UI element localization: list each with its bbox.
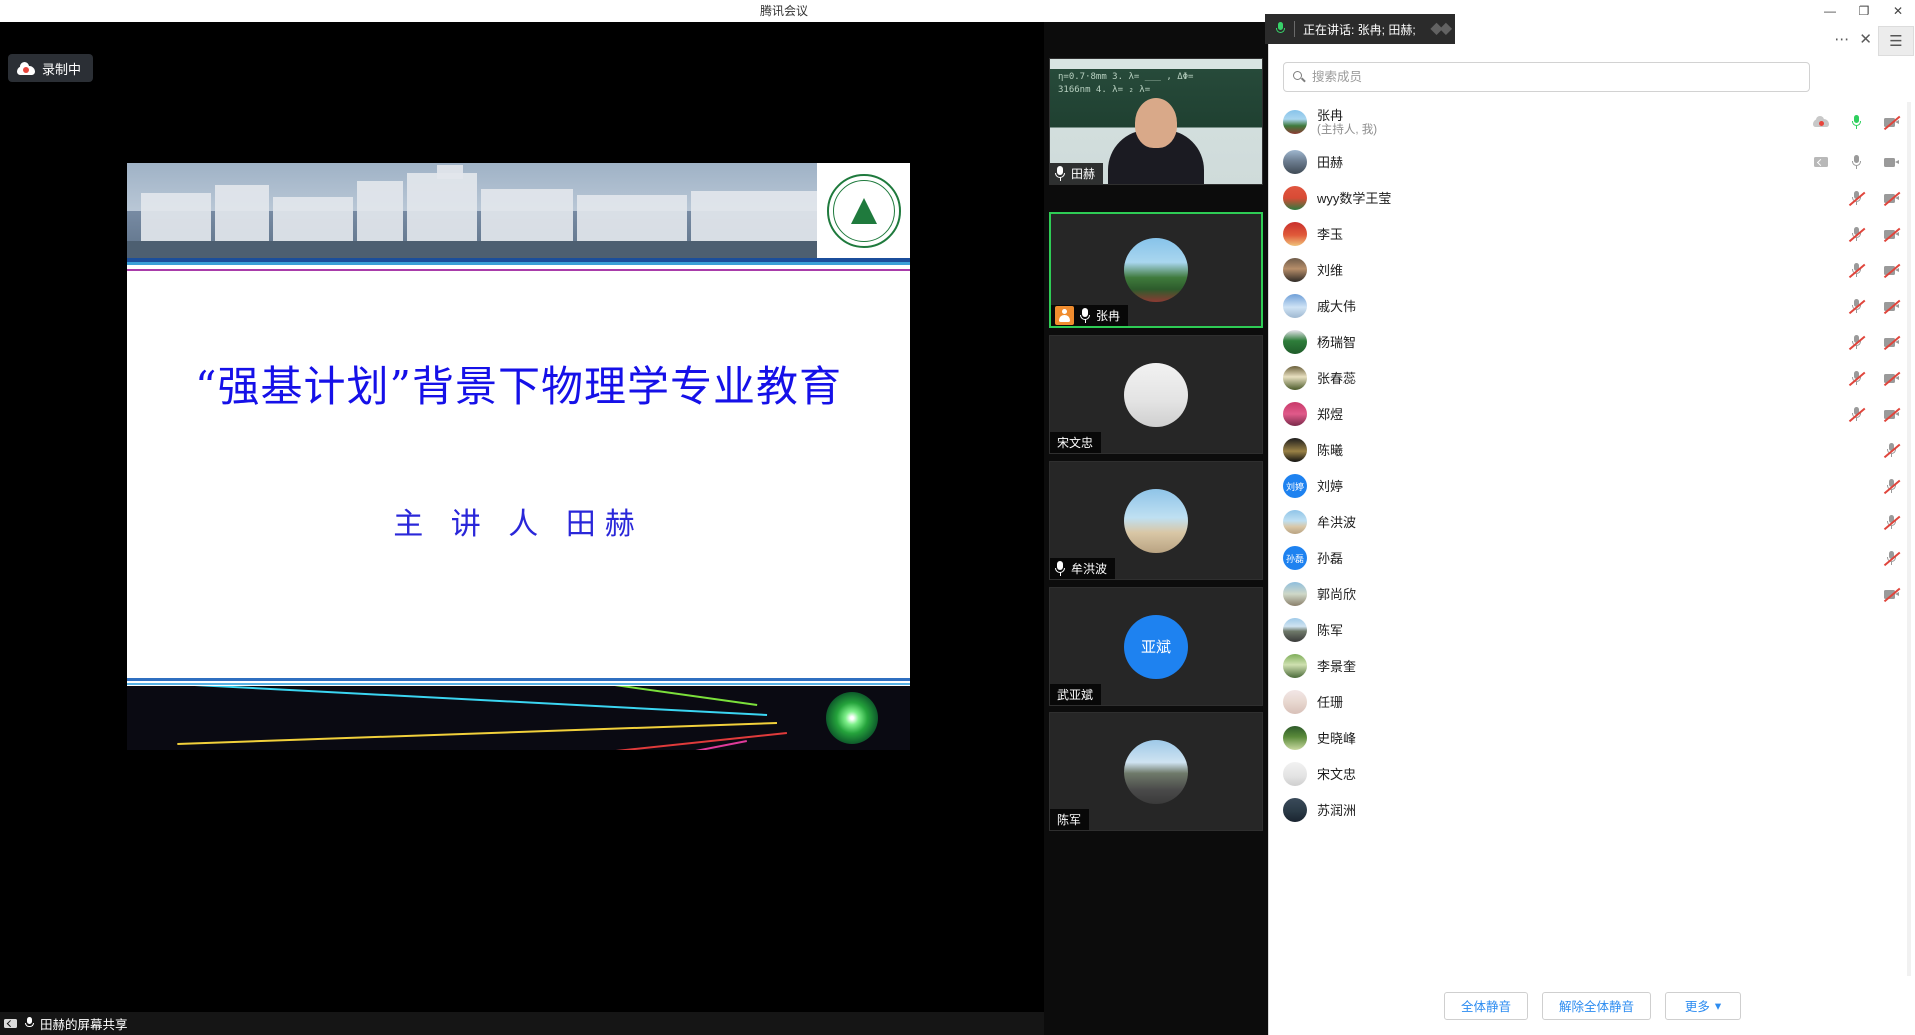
participant-row[interactable]: 牟洪波 <box>1269 504 1915 540</box>
camera-off-icon[interactable] <box>1883 335 1900 349</box>
participant-row[interactable]: 刘维 <box>1269 252 1915 288</box>
speaking-indicator: 正在讲话: 张冉; 田赫; ◆◆ <box>1265 14 1455 44</box>
avatar <box>1283 366 1307 390</box>
tile-label: 牟洪波 <box>1050 558 1115 579</box>
avatar <box>1283 762 1307 786</box>
avatar-initials: 亚斌 <box>1124 615 1188 679</box>
mic-off-icon[interactable] <box>1883 515 1900 529</box>
participant-name: 戚大伟 <box>1317 299 1356 314</box>
mic-off-icon[interactable] <box>1848 263 1865 277</box>
participant-row[interactable]: 戚大伟 <box>1269 288 1915 324</box>
mic-off-icon[interactable] <box>1883 479 1900 493</box>
camera-off-icon[interactable] <box>1883 407 1900 421</box>
panel-footer: 全体静音 解除全体静音 更多 ▾ <box>1269 976 1915 1035</box>
avatar <box>1124 740 1188 804</box>
participant-row[interactable]: 田赫 <box>1269 144 1915 180</box>
participant-name: 郑煜 <box>1317 407 1343 422</box>
avatar <box>1283 798 1307 822</box>
tile-label: 张冉 <box>1051 305 1128 326</box>
participant-row[interactable]: 史晓峰 <box>1269 720 1915 756</box>
participant-actions <box>1883 551 1900 565</box>
mic-icon <box>1054 166 1066 181</box>
video-tile-mouhongbo[interactable]: 牟洪波 <box>1049 461 1263 580</box>
video-tile-tianhe[interactable]: η=0.7·8mm 3. λ= ___ , ΔΦ=3166nm 4. λ= ₂ … <box>1049 58 1263 185</box>
recording-label: 录制中 <box>42 59 81 78</box>
participant-name: 陈军 <box>1317 623 1343 638</box>
participant-info: 戚大伟 <box>1317 299 1356 314</box>
panel-header: 正在讲话: 张冉; 田赫; ◆◆ ⋯ ✕ ☰ <box>1269 22 1915 60</box>
screen-share-icon[interactable] <box>1813 155 1830 169</box>
participant-name: 史晓峰 <box>1317 731 1356 746</box>
participant-row[interactable]: 张冉(主持人, 我) <box>1269 100 1915 144</box>
participant-name: 任珊 <box>1317 695 1343 710</box>
mic-icon <box>1275 22 1286 36</box>
participant-name: wyy数学王莹 <box>1317 191 1391 206</box>
participant-row[interactable]: 陈曦 <box>1269 432 1915 468</box>
mic-icon <box>24 1017 34 1030</box>
search-icon <box>1293 71 1305 83</box>
slide-title: “强基计划”背景下物理学专业教育 <box>127 353 910 414</box>
avatar <box>1283 690 1307 714</box>
avatar <box>1283 258 1307 282</box>
mic-on-icon[interactable] <box>1848 115 1865 129</box>
participant-info: 郭尚欣 <box>1317 587 1356 602</box>
tile-name: 张冉 <box>1096 307 1120 324</box>
avatar: 孙磊 <box>1283 546 1307 570</box>
avatar <box>1124 363 1188 427</box>
participant-name: 陈曦 <box>1317 443 1343 458</box>
participant-name: 李玉 <box>1317 227 1343 242</box>
participant-row[interactable]: 宋文忠 <box>1269 756 1915 792</box>
participant-name: 李景奎 <box>1317 659 1356 674</box>
avatar: 亚斌 <box>1124 615 1188 679</box>
participant-info: wyy数学王莹 <box>1317 191 1391 206</box>
participant-name: 郭尚欣 <box>1317 587 1356 602</box>
more-options-icon[interactable]: ⋯ <box>1834 30 1849 48</box>
participant-row[interactable]: 张春蕊 <box>1269 360 1915 396</box>
participant-actions <box>1848 263 1900 277</box>
video-tile-wuyabin[interactable]: 亚斌 武亚斌 <box>1049 587 1263 706</box>
avatar <box>1283 402 1307 426</box>
participant-info: 陈军 <box>1317 623 1343 638</box>
participant-actions <box>1848 191 1900 205</box>
camera-off-icon[interactable] <box>1883 371 1900 385</box>
participants-list[interactable]: 张冉(主持人, 我)田赫wyy数学王莹李玉刘维戚大伟杨瑞智张春蕊郑煜陈曦刘婷刘婷… <box>1269 100 1915 998</box>
participant-name: 刘维 <box>1317 263 1343 278</box>
chevron-down-icon: ▾ <box>1715 998 1721 1013</box>
avatar: 刘婷 <box>1283 474 1307 498</box>
participant-name: 牟洪波 <box>1317 515 1356 530</box>
mic-off-icon[interactable] <box>1883 551 1900 565</box>
camera-off-icon[interactable] <box>1883 191 1900 205</box>
participant-info: 田赫 <box>1317 155 1343 170</box>
chevrons-icon: ◆◆ <box>1430 18 1449 38</box>
close-button[interactable]: ✕ <box>1881 0 1915 22</box>
video-filmstrip[interactable]: η=0.7·8mm 3. λ= ___ , ΔΦ=3166nm 4. λ= ₂ … <box>1044 22 1268 1035</box>
participant-actions <box>1848 371 1900 385</box>
maximize-button[interactable]: ❐ <box>1847 0 1881 22</box>
meeting-window: 腾讯会议 — ❐ ✕ 录制中 <box>0 0 1915 1035</box>
share-status-text: 田赫的屏幕共享 <box>40 1014 128 1033</box>
participant-info: 张春蕊 <box>1317 371 1356 386</box>
avatar <box>1283 330 1307 354</box>
participant-name: 张冉 <box>1317 108 1377 123</box>
participant-row[interactable]: wyy数学王莹 <box>1269 180 1915 216</box>
participant-row[interactable]: 孙磊孙磊 <box>1269 540 1915 576</box>
cloud-record-icon[interactable] <box>1813 115 1830 129</box>
unmute-all-button[interactable]: 解除全体静音 <box>1542 992 1651 1020</box>
participant-info: 杨瑞智 <box>1317 335 1356 350</box>
mic-off-icon[interactable] <box>1848 335 1865 349</box>
slide-footer-image <box>127 686 910 750</box>
mic-off-icon[interactable] <box>1848 407 1865 421</box>
participant-name: 孙磊 <box>1317 551 1343 566</box>
participant-info: 陈曦 <box>1317 443 1343 458</box>
video-tile-zhangran[interactable]: 张冉 <box>1049 212 1263 328</box>
avatar <box>1283 294 1307 318</box>
participant-actions <box>1883 587 1900 601</box>
tile-label: 陈军 <box>1050 809 1089 830</box>
participant-row[interactable]: 郭尚欣 <box>1269 576 1915 612</box>
participant-name: 田赫 <box>1317 155 1343 170</box>
search-input[interactable] <box>1312 70 1800 84</box>
avatar <box>1283 654 1307 678</box>
university-logo <box>817 163 910 258</box>
participant-role: (主持人, 我) <box>1317 123 1377 137</box>
mic-icon[interactable] <box>1848 155 1865 169</box>
participant-actions <box>1813 115 1900 129</box>
participant-row[interactable]: 任珊 <box>1269 684 1915 720</box>
participant-info: 李玉 <box>1317 227 1343 242</box>
participant-info: 苏润洲 <box>1317 803 1356 818</box>
share-status-bar: 田赫的屏幕共享 <box>0 1012 1044 1035</box>
presentation-slide: “强基计划”背景下物理学专业教育 主 讲 人 田赫 <box>127 163 910 750</box>
tile-label: 宋文忠 <box>1050 432 1101 453</box>
participant-actions <box>1848 299 1900 313</box>
participant-row[interactable]: 郑煜 <box>1269 396 1915 432</box>
participant-info: 刘维 <box>1317 263 1343 278</box>
slide-banner-image <box>127 163 910 258</box>
camera-off-icon[interactable] <box>1883 227 1900 241</box>
participant-name: 张春蕊 <box>1317 371 1356 386</box>
mic-off-icon[interactable] <box>1883 443 1900 457</box>
minimize-button[interactable]: — <box>1813 0 1847 22</box>
camera-off-icon[interactable] <box>1883 115 1900 129</box>
participant-actions <box>1848 227 1900 241</box>
tile-name: 武亚斌 <box>1057 686 1093 703</box>
panel-tools: ⋯ ✕ <box>1834 30 1872 48</box>
camera-off-icon[interactable] <box>1883 263 1900 277</box>
avatar <box>1283 438 1307 462</box>
participant-name: 宋文忠 <box>1317 767 1356 782</box>
participant-actions <box>1883 479 1900 493</box>
participant-info: 宋文忠 <box>1317 767 1356 782</box>
participant-name: 苏润洲 <box>1317 803 1356 818</box>
tile-name: 田赫 <box>1071 165 1095 182</box>
participant-row[interactable]: 李玉 <box>1269 216 1915 252</box>
participant-actions <box>1848 407 1900 421</box>
avatar <box>1283 222 1307 246</box>
avatar <box>1283 110 1307 134</box>
tile-name: 宋文忠 <box>1057 434 1093 451</box>
cloud-record-icon <box>17 62 35 75</box>
speaking-text: 正在讲话: 张冉; 田赫; <box>1303 21 1416 38</box>
participant-actions <box>1848 335 1900 349</box>
participant-actions <box>1883 443 1900 457</box>
participant-info: 李景奎 <box>1317 659 1356 674</box>
avatar <box>1283 618 1307 642</box>
participant-info: 牟洪波 <box>1317 515 1356 530</box>
tile-name: 陈军 <box>1057 811 1081 828</box>
screen-share-icon <box>4 1018 18 1030</box>
avatar <box>1124 238 1188 302</box>
video-tile-chenjun[interactable]: 陈军 <box>1049 712 1263 831</box>
mic-off-icon[interactable] <box>1848 371 1865 385</box>
shared-screen-area[interactable]: 录制中 “强基计划”背景下物理学专业教育 主 讲 人 <box>0 22 1044 1035</box>
mic-off-icon[interactable] <box>1848 299 1865 313</box>
participant-info: 孙磊 <box>1317 551 1343 566</box>
avatar <box>1124 489 1188 553</box>
participant-name: 杨瑞智 <box>1317 335 1356 350</box>
participant-row[interactable]: 杨瑞智 <box>1269 324 1915 360</box>
more-button[interactable]: 更多 ▾ <box>1665 992 1741 1020</box>
tile-label: 田赫 <box>1050 163 1103 184</box>
participant-info: 郑煜 <box>1317 407 1343 422</box>
camera-off-icon[interactable] <box>1883 587 1900 601</box>
participant-row[interactable]: 李景奎 <box>1269 648 1915 684</box>
participant-actions <box>1813 155 1900 169</box>
participant-row[interactable]: 苏润洲 <box>1269 792 1915 828</box>
participant-row[interactable]: 刘婷刘婷 <box>1269 468 1915 504</box>
camera-off-icon[interactable] <box>1883 299 1900 313</box>
participant-info: 刘婷 <box>1317 479 1343 494</box>
mic-off-icon[interactable] <box>1848 227 1865 241</box>
more-button-label: 更多 <box>1685 996 1710 1015</box>
search-box[interactable] <box>1283 62 1810 92</box>
tile-label: 武亚斌 <box>1050 684 1101 705</box>
participant-info: 任珊 <box>1317 695 1343 710</box>
avatar <box>1283 186 1307 210</box>
participant-info: 张冉(主持人, 我) <box>1317 108 1377 137</box>
avatar <box>1283 582 1307 606</box>
mic-off-icon[interactable] <box>1848 191 1865 205</box>
participants-panel: 正在讲话: 张冉; 田赫; ◆◆ ⋯ ✕ ☰ 张冉(主持人, 我)田赫wyy数学… <box>1268 22 1915 1035</box>
participant-row[interactable]: 陈军 <box>1269 612 1915 648</box>
recording-badge: 录制中 <box>8 54 93 82</box>
mic-icon <box>1079 308 1091 323</box>
avatar <box>1283 150 1307 174</box>
avatar <box>1283 510 1307 534</box>
participant-name: 刘婷 <box>1317 479 1343 494</box>
close-panel-icon[interactable]: ✕ <box>1859 30 1872 48</box>
menu-icon[interactable]: ☰ <box>1878 26 1914 56</box>
avatar <box>1283 726 1307 750</box>
participant-info: 史晓峰 <box>1317 731 1356 746</box>
firework-burst <box>826 692 878 744</box>
mute-all-button[interactable]: 全体静音 <box>1444 992 1528 1020</box>
video-tile-songwenzhong[interactable]: 宋文忠 <box>1049 335 1263 454</box>
title-bar: 腾讯会议 — ❐ ✕ <box>0 0 1915 22</box>
window-controls: — ❐ ✕ <box>1813 0 1915 22</box>
host-icon <box>1055 306 1074 325</box>
camera-on-icon[interactable] <box>1883 155 1900 169</box>
tile-name: 牟洪波 <box>1071 560 1107 577</box>
slide-presenter: 主 讲 人 田赫 <box>127 499 910 543</box>
search-member-wrap <box>1283 62 1810 92</box>
participant-actions <box>1883 515 1900 529</box>
mic-icon <box>1054 561 1066 576</box>
